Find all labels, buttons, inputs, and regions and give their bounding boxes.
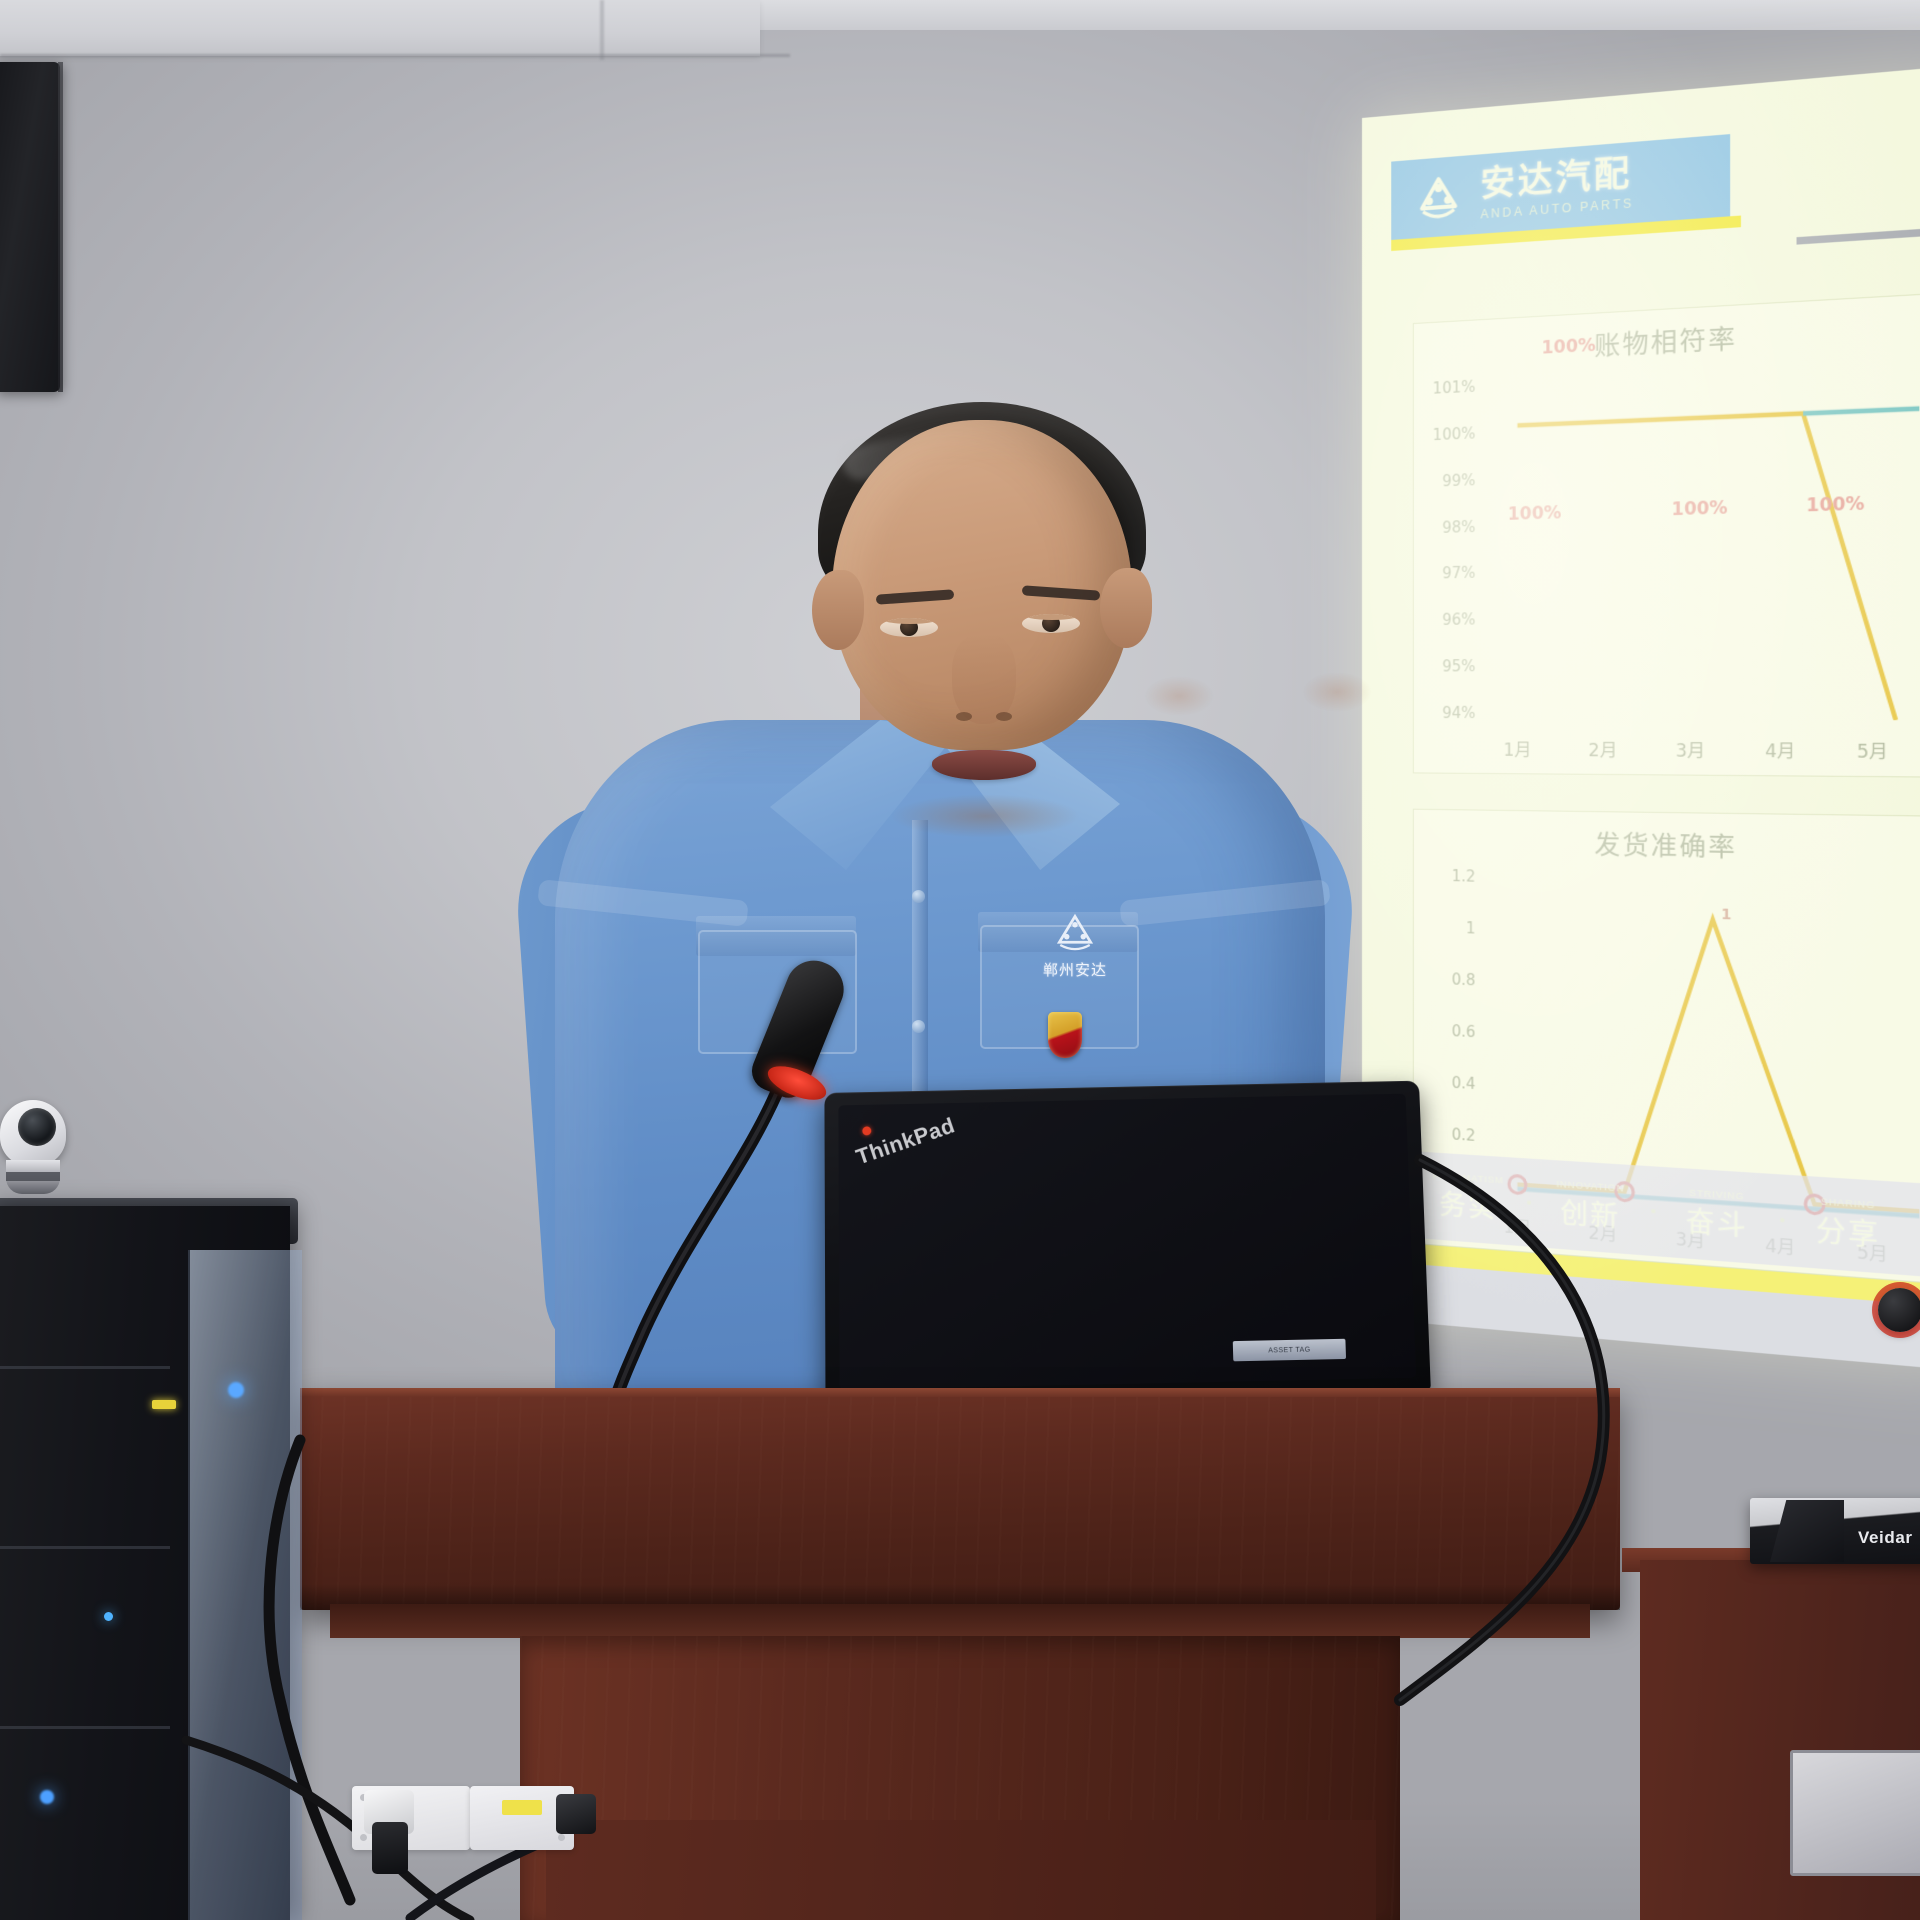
chart1-y-axis: 101% 100% 99% 98% 97% 96% 95% 94% (1420, 377, 1476, 722)
rack-panel-line (0, 1726, 170, 1729)
laptop[interactable]: ThinkPad ASSET TAG (824, 1081, 1430, 1403)
party-emblem-pin-icon (1048, 1012, 1082, 1058)
value-item: SHARING 分享 (1795, 1194, 1902, 1255)
xtick: 2月 (1588, 736, 1617, 762)
ytick: 100% (1433, 424, 1476, 444)
eyelid-right (1022, 614, 1080, 620)
value-cn: 创新 (1560, 1190, 1620, 1235)
wall-seam (0, 54, 790, 57)
chart1-label-2: 100% (1671, 498, 1727, 521)
ytick: 0.8 (1452, 970, 1476, 989)
ytick: 0.6 (1452, 1022, 1476, 1041)
chart1-plot-area: 100% 100% 100% 100% (1475, 358, 1919, 720)
chart-title-2: 发货准确率 (1414, 822, 1920, 869)
ptz-camera-body (0, 1100, 66, 1166)
chart2-label-2: 1 (1721, 907, 1731, 924)
rack-status-led-yellow (152, 1400, 176, 1409)
projection-screen: 安达汽配 ANDA AUTO PARTS 账物相符率 101% 100% 99%… (1362, 65, 1920, 1372)
laptop-asset-sticker: ASSET TAG (1233, 1339, 1346, 1362)
value-item: PRAGMATISM 务实 (1420, 1170, 1516, 1227)
separator-dot-icon (1651, 1209, 1655, 1213)
ytick: 96% (1442, 610, 1475, 629)
ytick: 1 (1466, 919, 1476, 938)
podium-desktop (300, 1388, 1620, 1610)
rack-status-led-blue (104, 1612, 113, 1621)
nose (952, 634, 1016, 724)
outlet-label-sticker (502, 1800, 542, 1815)
ytick: 0.4 (1452, 1074, 1476, 1094)
ytick: 98% (1442, 517, 1475, 536)
ear-right (1100, 568, 1152, 648)
podium-front-edge (300, 1388, 1620, 1397)
camera-lens-icon (18, 1108, 56, 1146)
ytick: 99% (1442, 471, 1475, 490)
gooseneck-microphone-stem (600, 1080, 790, 1400)
right-desk-panel (1790, 1750, 1920, 1876)
brand-name-cn: 安达汽配 (1480, 155, 1634, 202)
xtick: 3月 (1676, 736, 1706, 762)
shirt-button (912, 1020, 925, 1033)
podium-base (546, 1820, 1376, 1920)
chart1-svg (1475, 358, 1919, 720)
ear-left (812, 570, 864, 650)
chart1-label-3: 100% (1806, 494, 1864, 517)
value-item: INNOVATION 创新 (1541, 1178, 1640, 1237)
rack-panel-line (0, 1546, 170, 1549)
slide-divider-line (1797, 228, 1920, 244)
chart-panel-inventory-accuracy: 账物相符率 101% 100% 99% 98% 97% 96% 95% 94% (1413, 293, 1920, 778)
rack-panel-line (0, 1366, 170, 1369)
xtick: 1月 (1503, 735, 1531, 761)
mic-stem-svg (600, 1080, 790, 1400)
trefoil-clover-icon (1411, 167, 1467, 228)
rack-status-led-blue (228, 1382, 244, 1398)
eyelid-left (880, 618, 938, 624)
podium-bevel (330, 1604, 1590, 1638)
ptz-camera-ring (6, 1172, 60, 1181)
value-item: STRIVING 奋斗 (1666, 1186, 1769, 1246)
wall-upper-panel (0, 0, 760, 56)
nostril-left (956, 712, 972, 721)
power-plug-right[interactable] (556, 1794, 596, 1834)
trefoil-clover-icon (1049, 910, 1101, 956)
mouth (932, 750, 1036, 780)
laptop-lid: ThinkPad ASSET TAG (824, 1081, 1430, 1403)
eye-right (1022, 614, 1080, 633)
wood-grain (300, 1388, 1620, 1610)
presentation-slide: 安达汽配 ANDA AUTO PARTS 账物相符率 101% 100% 99%… (1362, 65, 1920, 1372)
veidar-brand-label: Veidar (1858, 1528, 1913, 1548)
screenshot-root: 安达汽配 ANDA AUTO PARTS 账物相符率 101% 100% 99%… (0, 0, 1920, 1920)
ytick: 95% (1442, 657, 1475, 676)
wall-seam-vertical (600, 0, 604, 60)
chart1-label-0: 100% (1542, 336, 1596, 359)
chart2-y-axis: 1.2 1 0.8 0.6 0.4 0.2 0 (1420, 866, 1476, 1197)
eye-left (880, 618, 938, 637)
wall-speaker (0, 62, 60, 392)
rack-status-led-blue (40, 1790, 54, 1804)
value-cn: 分享 (1816, 1208, 1881, 1254)
cheek-right (1302, 672, 1372, 712)
ytick: 94% (1442, 704, 1475, 722)
chart1-label-1: 100% (1508, 503, 1562, 525)
value-cn: 务实 (1439, 1182, 1497, 1226)
ptz-camera (0, 1100, 70, 1200)
nostril-right (996, 712, 1012, 721)
ytick: 97% (1442, 564, 1475, 583)
chart1-x-axis: 1月 2月 3月 4月 5月 (1475, 735, 1919, 763)
rack-glass-door[interactable] (188, 1250, 302, 1920)
outlet-screw (558, 1834, 565, 1841)
shirt-button (912, 890, 925, 903)
ytick: 1.2 (1452, 867, 1476, 886)
chin-shadow (890, 794, 1080, 838)
secondary-microphone[interactable] (1878, 1288, 1920, 1332)
xtick: 4月 (1765, 736, 1795, 763)
power-plug-body (372, 1822, 408, 1874)
uniform-company-name: 郸州安达 (1043, 959, 1107, 980)
outlet-screw (360, 1834, 367, 1841)
ytick: 101% (1433, 377, 1476, 397)
xtick: 5月 (1857, 736, 1888, 763)
separator-dot-icon (1780, 1218, 1784, 1223)
uniform-embroidered-logo: 郸州安达 (1020, 910, 1130, 1000)
value-cn: 奋斗 (1686, 1199, 1748, 1244)
cheek-left (1144, 676, 1214, 716)
separator-dot-icon (1526, 1200, 1530, 1204)
ytick: 0.2 (1452, 1125, 1476, 1145)
